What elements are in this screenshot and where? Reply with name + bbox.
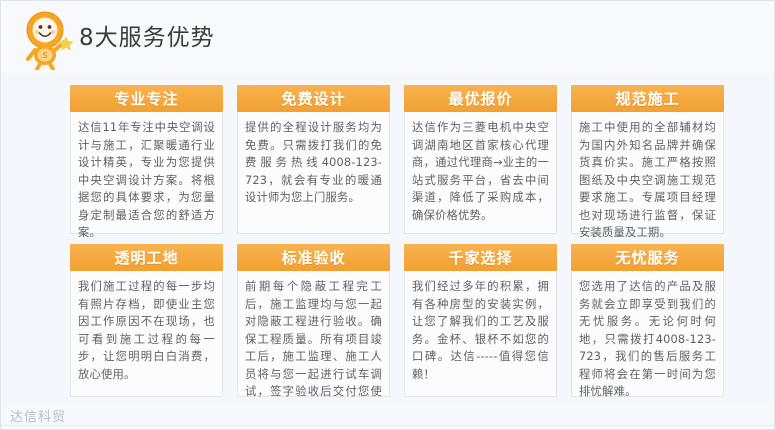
advantages-grid: 专业专注 达信11年专注中央空调设计与施工，汇聚暖通行业设计精英，专业为您提供中… [70, 85, 726, 407]
advantage-card-title: 专业专注 [70, 85, 223, 112]
advantage-card-body: 达信作为三菱电机中央空调湖南地区首家核心代理商，通过代理商→业主的一站式服务平台… [404, 112, 557, 234]
advantage-card-2[interactable]: 免费设计 提供的全程设计服务均为免费。只需拨打我们的免费服务热线4008-123… [237, 85, 390, 234]
footer-brand-name: 达信科贸 [10, 406, 66, 425]
advantage-card-3[interactable]: 最优报价 达信作为三菱电机中央空调湖南地区首家核心代理商，通过代理商→业主的一站… [404, 85, 557, 234]
advantage-card-body: 我们施工过程的每一步均有照片存档，即使业主您因工作原因不在现场，也可看到施工过程… [70, 271, 223, 397]
advantage-card-7[interactable]: 千家选择 我们经过多年的积累，拥有各种房型的安装实例，让您了解我们的工艺及服务。… [404, 244, 557, 397]
advantage-card-8[interactable]: 无忧服务 您选用了达信的产品及服务就会立即享受到我们的无忧服务。无论何时何地，只… [571, 244, 724, 397]
advantage-card-4[interactable]: 规范施工 施工中使用的全部辅材均为国内外知名品牌并确保货真价实。施工严格按照图纸… [571, 85, 724, 234]
service-advantages-page: S 8大服务优势 专业专注 达信11年专注中央空调设计与施工，汇聚暖通行业设计精… [0, 0, 775, 430]
advantages-row-1: 专业专注 达信11年专注中央空调设计与施工，汇聚暖通行业设计精英，专业为您提供中… [70, 85, 726, 234]
advantage-card-body: 前期每个隐蔽工程完工后，施工监理均与您一起对隐蔽工程进行验收。确保工程质量。所有… [237, 271, 390, 397]
advantage-card-title: 免费设计 [237, 85, 390, 112]
advantage-card-title: 规范施工 [571, 85, 724, 112]
sun-mascot-icon: S [19, 8, 77, 70]
advantage-card-title: 透明工地 [70, 244, 223, 271]
footer-divider [1, 425, 775, 426]
advantage-card-title: 千家选择 [404, 244, 557, 271]
advantage-card-title: 无忧服务 [571, 244, 724, 271]
svg-text:S: S [42, 51, 47, 60]
advantage-card-title: 最优报价 [404, 85, 557, 112]
page-header: S 8大服务优势 [1, 1, 775, 73]
advantage-card-body: 达信11年专注中央空调设计与施工，汇聚暖通行业设计精英，专业为您提供中央空调设计… [70, 112, 223, 234]
advantage-card-title: 标准验收 [237, 244, 390, 271]
advantage-card-body: 我们经过多年的积累，拥有各种房型的安装实例，让您了解我们的工艺及服务。金杯、银杯… [404, 271, 557, 397]
page-footer: 达信科贸 [1, 403, 775, 429]
advantage-card-6[interactable]: 标准验收 前期每个隐蔽工程完工后，施工监理均与您一起对隐蔽工程进行验收。确保工程… [237, 244, 390, 397]
advantage-card-body: 施工中使用的全部辅材均为国内外知名品牌并确保货真价实。施工严格按照图纸及中央空调… [571, 112, 724, 234]
advantage-card-1[interactable]: 专业专注 达信11年专注中央空调设计与施工，汇聚暖通行业设计精英，专业为您提供中… [70, 85, 223, 234]
advantages-row-2: 透明工地 我们施工过程的每一步均有照片存档，即使业主您因工作原因不在现场，也可看… [70, 244, 726, 397]
advantage-card-5[interactable]: 透明工地 我们施工过程的每一步均有照片存档，即使业主您因工作原因不在现场，也可看… [70, 244, 223, 397]
advantage-card-body: 提供的全程设计服务均为免费。只需拨打我们的免费服务热线4008-123-723，… [237, 112, 390, 234]
page-title: 8大服务优势 [79, 23, 215, 53]
advantage-card-body: 您选用了达信的产品及服务就会立即享受到我们的无忧服务。无论何时何地，只需拨打40… [571, 271, 724, 397]
